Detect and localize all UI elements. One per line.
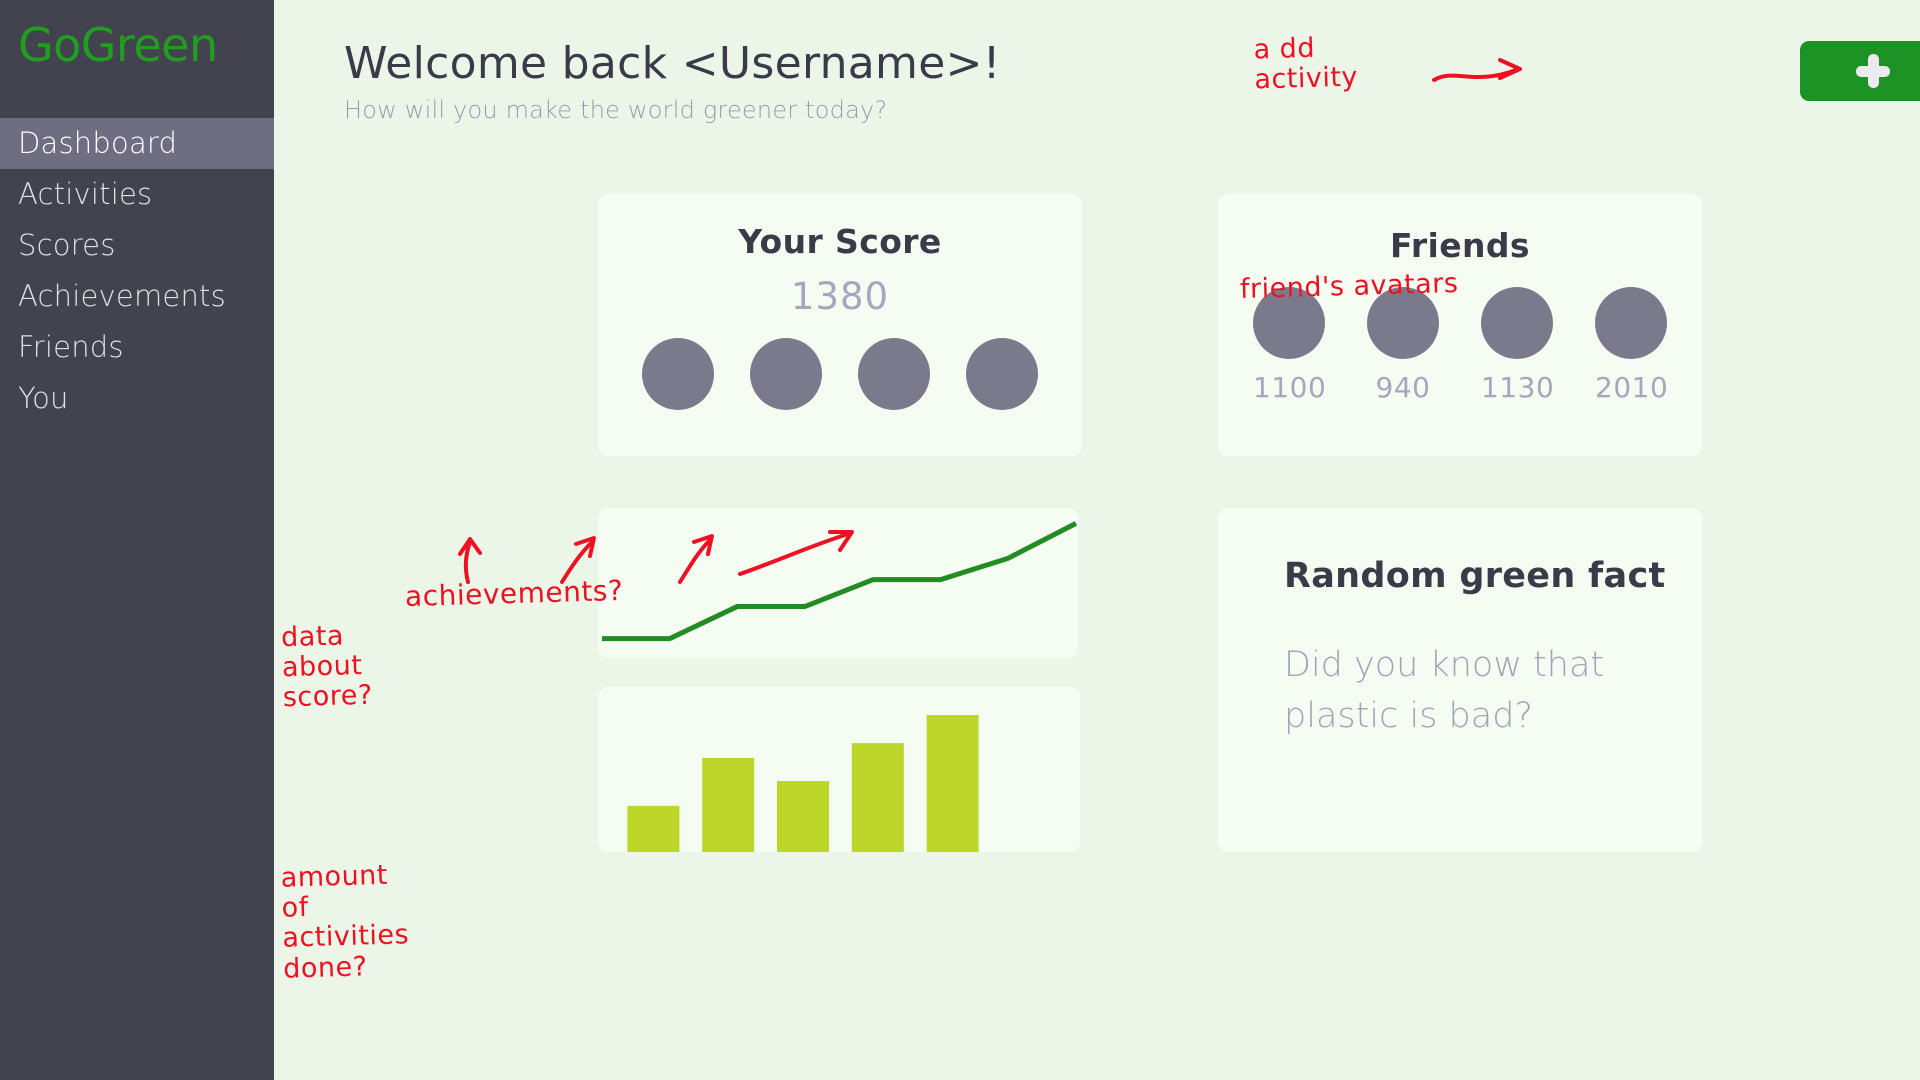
sidebar-nav: Dashboard Activities Scores Achievements… <box>0 118 274 424</box>
activities-bar-chart <box>598 687 1080 852</box>
friend-item[interactable]: 2010 <box>1595 287 1667 404</box>
score-value: 1380 <box>598 275 1082 318</box>
score-card-title: Your Score <box>598 222 1082 261</box>
friend-avatar[interactable] <box>1595 287 1667 359</box>
sidebar-item-you[interactable]: You <box>0 373 274 424</box>
friend-score: 1100 <box>1253 371 1325 404</box>
friend-avatar[interactable] <box>1367 287 1439 359</box>
friends-list: 1100 940 1130 2010 <box>1218 287 1702 404</box>
add-activity-button[interactable] <box>1800 41 1920 101</box>
green-fact-body: Did you know that plastic is bad? <box>1284 640 1664 742</box>
friend-item[interactable]: 940 <box>1367 287 1439 404</box>
dashboard-page: GoGreen Dashboard Activities Scores Achi… <box>0 0 1920 1080</box>
friends-card-title: Friends <box>1218 226 1702 265</box>
bar <box>777 781 829 852</box>
friend-avatar[interactable] <box>1253 287 1325 359</box>
friend-avatar[interactable] <box>1481 287 1553 359</box>
score-line-chart-card[interactable] <box>598 508 1078 658</box>
bar <box>627 806 679 852</box>
friend-item[interactable]: 1130 <box>1481 287 1553 404</box>
bar <box>702 758 754 852</box>
achievement-badge-4[interactable] <box>966 338 1038 410</box>
green-fact-title: Random green fact <box>1284 556 1702 596</box>
achievement-badge-row <box>598 338 1082 410</box>
sidebar-item-achievements[interactable]: Achievements <box>0 271 274 322</box>
sidebar-item-activities[interactable]: Activities <box>0 169 274 220</box>
friend-score: 2010 <box>1595 371 1667 404</box>
score-card: Your Score 1380 <box>598 194 1082 456</box>
sidebar-item-dashboard[interactable]: Dashboard <box>0 118 274 169</box>
achievement-badge-3[interactable] <box>858 338 930 410</box>
page-header: Welcome back <Username>! How will you ma… <box>344 40 1244 124</box>
bar <box>852 743 904 852</box>
sidebar-item-friends[interactable]: Friends <box>0 322 274 373</box>
friend-score: 940 <box>1367 371 1439 404</box>
score-line-chart <box>598 508 1078 658</box>
plus-icon <box>1856 54 1890 88</box>
page-subtitle: How will you make the world greener toda… <box>344 96 1244 124</box>
friends-card: Friends 1100 940 1130 2010 <box>1218 194 1702 456</box>
activities-bar-chart-card[interactable] <box>598 687 1080 852</box>
main-content: Welcome back <Username>! How will you ma… <box>274 0 1920 1080</box>
friend-item[interactable]: 1100 <box>1253 287 1325 404</box>
sidebar-item-scores[interactable]: Scores <box>0 220 274 271</box>
achievement-badge-2[interactable] <box>750 338 822 410</box>
brand-logo-text[interactable]: GoGreen <box>0 0 274 68</box>
friend-score: 1130 <box>1481 371 1553 404</box>
green-fact-card: Random green fact Did you know that plas… <box>1218 508 1702 852</box>
sidebar: GoGreen Dashboard Activities Scores Achi… <box>0 0 274 1080</box>
page-title: Welcome back <Username>! <box>344 40 1244 88</box>
achievement-badge-1[interactable] <box>642 338 714 410</box>
bar <box>927 715 979 852</box>
